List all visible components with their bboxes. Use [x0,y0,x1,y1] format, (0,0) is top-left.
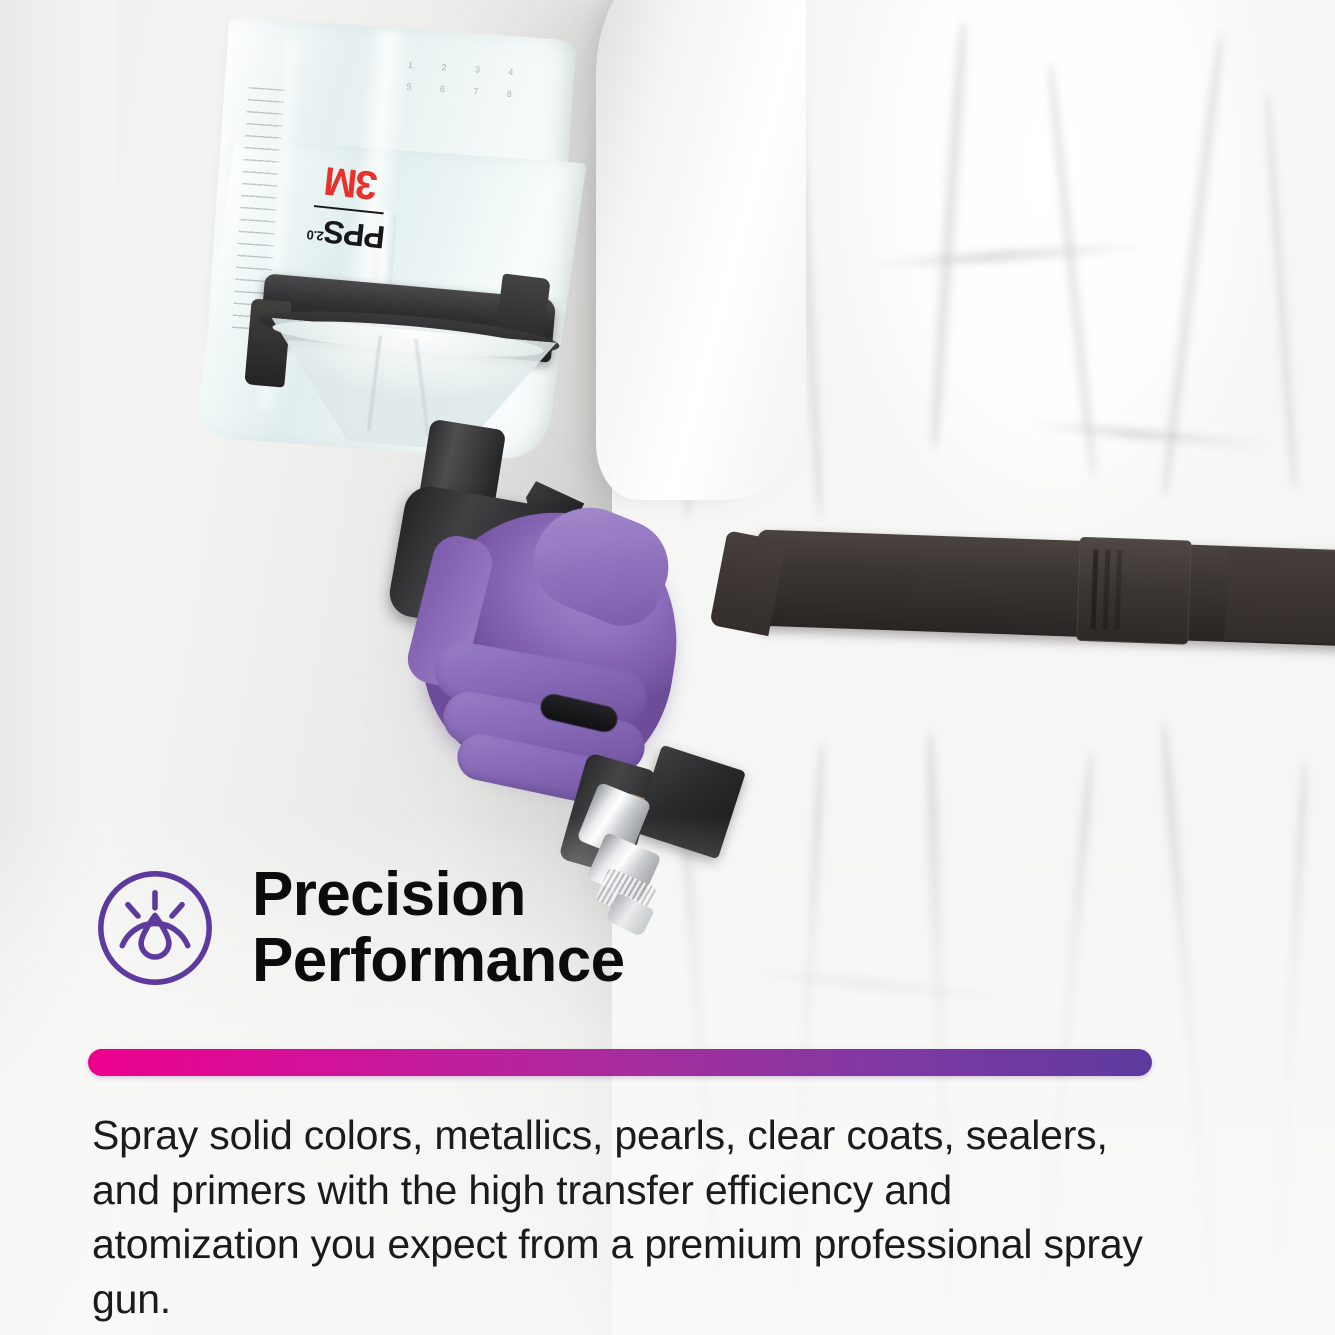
feature-heading-row: Precision Performance [92,862,624,993]
product-feature-image: 1 2 3 4 5 6 7 8 PPS2.0 3M [0,0,1335,1335]
gradient-divider-bar [88,1049,1152,1076]
feature-callout-overlay: Precision Performance Spray solid colors… [0,0,1335,1335]
feature-description: Spray solid colors, metallics, pearls, c… [92,1108,1162,1326]
feature-title: Precision Performance [252,862,624,993]
gauge-droplet-icon [92,865,218,991]
